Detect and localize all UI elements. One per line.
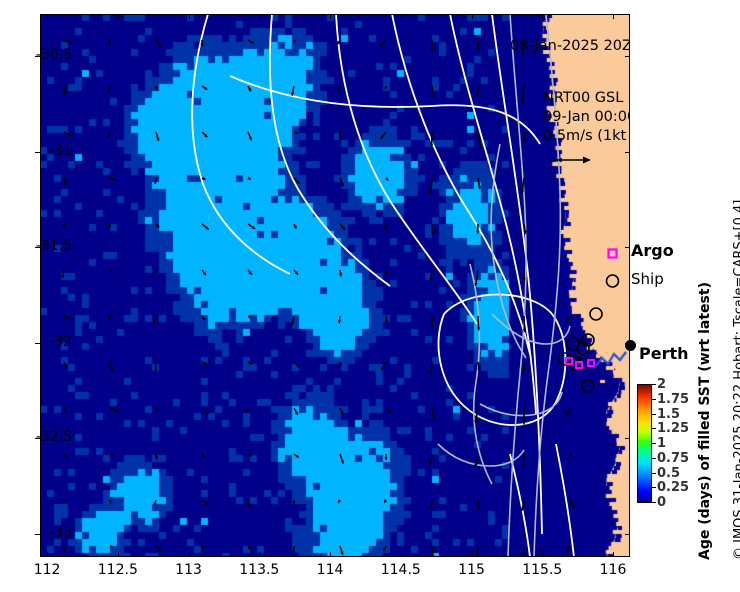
- date-label: 08-Jan-2025 20Z: [510, 38, 630, 54]
- current-vector-arrow: [248, 453, 252, 456]
- forecast-scale-label: 0.5m/s (1kt 6h): [543, 127, 630, 146]
- current-vector-arrow: [248, 270, 252, 275]
- y-axis-label: -32: [0, 334, 72, 350]
- x-axis-tick: [401, 552, 402, 557]
- argo-marker-icon: [605, 246, 621, 262]
- current-vector-arrow: [291, 316, 294, 325]
- colorbar-tick-label: 0.75: [657, 452, 689, 465]
- current-vector-arrow: [385, 177, 388, 180]
- perth-city-marker-icon: [625, 340, 636, 351]
- current-vector-arrow: [522, 546, 526, 557]
- current-vector-arrow: [476, 86, 479, 97]
- credit-label: © IMOS 31-Jan-2025 20:22 Hobart; Tscale=…: [732, 200, 740, 560]
- current-vector-arrow: [338, 86, 341, 91]
- current-vector-arrow: [156, 40, 161, 47]
- current-vector-arrow: [202, 270, 206, 275]
- current-vector-arrow: [62, 224, 65, 227]
- current-vector-arrow: [430, 500, 433, 510]
- current-vector-arrow: [294, 270, 298, 275]
- current-vector-arrow: [339, 132, 343, 140]
- x-axis-label: 116: [578, 562, 648, 578]
- y-axis-tick: [625, 534, 630, 535]
- current-vector-arrow: [339, 270, 342, 276]
- current-vector-arrow: [110, 408, 119, 412]
- vector-scale-arrow-icon: [552, 154, 592, 166]
- current-vector-arrow: [156, 224, 159, 227]
- x-axis-tick: [330, 14, 331, 19]
- current-vector-arrow: [202, 316, 205, 320]
- current-vector-arrow: [202, 177, 206, 180]
- x-axis-tick: [330, 552, 331, 557]
- x-axis-tick: [259, 14, 260, 19]
- y-axis-tick: [625, 343, 630, 344]
- x-axis-label: 113: [154, 562, 224, 578]
- current-vector-arrow: [340, 224, 345, 230]
- x-axis-tick: [47, 14, 48, 19]
- y-axis-tick: [625, 56, 630, 57]
- current-vector-arrow: [292, 546, 296, 553]
- current-vector-arrow: [154, 86, 157, 91]
- current-vector-arrow: [474, 454, 478, 467]
- x-axis-label: 115.5: [507, 562, 577, 578]
- current-vector-arrow: [294, 408, 298, 415]
- legend-label-ship: Ship: [631, 270, 664, 288]
- colorbar-tick-label: 1: [657, 437, 666, 450]
- colorbar-tick-label: 0: [657, 496, 666, 509]
- current-vector-arrow: [108, 316, 111, 321]
- colorbar-axis-title: Age (days) of filled SST (wrt latest): [697, 282, 713, 560]
- current-vector-arrow: [248, 546, 251, 550]
- ship-position-marker[interactable]: [590, 308, 602, 320]
- x-axis-label: 112.5: [83, 562, 153, 578]
- colorbar-tick-label: 2: [657, 378, 666, 391]
- colorbar-tick: [652, 384, 656, 385]
- x-axis-label: 115: [437, 562, 507, 578]
- current-vector-arrow: [156, 132, 159, 141]
- current-vector-arrow: [384, 499, 387, 502]
- legend-label-argo: Argo: [631, 241, 674, 260]
- colorbar-tick: [652, 473, 656, 474]
- current-vector-arrow: [62, 546, 66, 552]
- current-vector-arrow: [248, 40, 254, 44]
- current-vector-arrow: [108, 224, 111, 229]
- colorbar-tick-label: 1.5: [657, 408, 680, 421]
- current-vector-arrow: [248, 224, 255, 229]
- current-vector-arrow: [432, 86, 435, 98]
- x-axis-tick: [118, 552, 119, 557]
- current-vector-arrow: [154, 500, 157, 506]
- current-vector-arrow: [109, 269, 112, 272]
- colorbar-tick-label: 1.25: [657, 422, 689, 435]
- x-axis-tick: [472, 552, 473, 557]
- current-vector-arrow: [340, 546, 344, 555]
- x-axis-tick: [472, 14, 473, 19]
- y-axis-label: -32.5: [0, 429, 72, 445]
- current-vector-arrow: [429, 362, 432, 375]
- current-vector-arrow: [110, 453, 114, 456]
- argo-float-marker[interactable]: [566, 358, 572, 364]
- current-vector-arrow: [154, 270, 157, 274]
- current-vector-arrow: [521, 500, 524, 511]
- current-vector-arrow: [340, 408, 343, 414]
- current-vector-arrow: [477, 316, 480, 330]
- current-vector-arrow: [110, 545, 114, 548]
- current-vector-arrow: [381, 132, 386, 139]
- y-axis-label: -33: [0, 525, 72, 541]
- current-vector-arrow: [570, 500, 575, 508]
- current-vector-arrow: [475, 546, 478, 557]
- colorbar-tick: [652, 414, 656, 415]
- x-axis-tick: [542, 14, 543, 19]
- x-axis-tick: [542, 552, 543, 557]
- current-vector-arrow: [384, 224, 387, 229]
- current-vector-arrow: [63, 454, 66, 457]
- y-axis-tick: [625, 247, 630, 248]
- x-axis-label: 114: [295, 562, 365, 578]
- current-vector-arrow: [521, 178, 524, 193]
- colorbar-gradient: [637, 384, 652, 503]
- current-vector-arrow: [340, 454, 344, 463]
- current-vector-arrow: [248, 315, 252, 318]
- colorbar-tick: [652, 502, 656, 503]
- current-vector-arrow: [63, 499, 66, 502]
- current-vector-arrow: [566, 316, 570, 322]
- current-vector-arrow: [155, 454, 158, 459]
- current-vector-arrow: [64, 362, 67, 368]
- current-vector-arrow: [380, 40, 386, 46]
- current-vector-arrow: [478, 132, 483, 148]
- current-vector-arrow: [154, 178, 157, 184]
- x-axis-tick: [613, 14, 614, 19]
- x-axis-label: 112: [12, 562, 82, 578]
- forecast-model-label: NRT00 GSL: [543, 89, 630, 108]
- current-vector-arrow: [566, 408, 570, 417]
- colorbar-tick: [652, 399, 656, 400]
- current-vector-arrow: [381, 362, 386, 370]
- current-vector-arrow: [523, 132, 526, 142]
- current-vector-arrow: [338, 40, 341, 44]
- colorbar-tick: [652, 443, 656, 444]
- current-vector-arrow: [569, 454, 572, 457]
- current-vector-arrow: [202, 86, 207, 90]
- current-vector-arrow: [431, 224, 435, 234]
- current-vector-arrow: [63, 86, 66, 96]
- colorbar-tick-label: 0.25: [657, 481, 689, 494]
- y-axis-label: -31.5: [0, 238, 72, 254]
- current-vector-arrow: [200, 546, 203, 550]
- current-vector-arrow: [429, 178, 432, 195]
- current-vector-arrow: [202, 408, 209, 414]
- current-vector-arrow: [294, 362, 300, 368]
- current-vector-arrow: [107, 132, 110, 138]
- current-vector-arrow: [386, 408, 391, 413]
- current-vector-arrow: [385, 316, 388, 323]
- current-vector-arrow: [64, 132, 73, 137]
- x-axis-tick: [47, 552, 48, 557]
- x-axis-tick: [189, 552, 190, 557]
- current-vector-arrow: [338, 362, 341, 366]
- current-vector-arrow: [477, 362, 480, 372]
- colorbar-tick-label: 0.5: [657, 467, 680, 480]
- current-vector-arrow: [156, 408, 160, 412]
- current-vector-arrow: [61, 270, 64, 278]
- current-vector-arrow: [476, 224, 480, 234]
- current-vector-arrow: [248, 132, 252, 140]
- current-vector-arrow: [430, 132, 434, 147]
- current-vector-arrow: [64, 178, 67, 185]
- current-vector-arrow: [340, 178, 344, 186]
- current-vector-arrow: [523, 316, 527, 332]
- colorbar-tick: [652, 487, 656, 488]
- ship-position-marker[interactable]: [582, 380, 594, 392]
- current-vector-arrow: [429, 454, 432, 466]
- current-vector-arrow: [338, 499, 341, 502]
- y-axis-label: -31: [0, 143, 72, 159]
- sst-age-map-figure: 08-Jan-2025 20Z 200m 1000m NRT00 GSL 09-…: [0, 0, 740, 592]
- current-vector-arrow: [432, 408, 435, 419]
- x-axis-label: 114.5: [366, 562, 436, 578]
- current-vector-arrow: [430, 40, 434, 52]
- ship-marker-icon: [605, 273, 621, 289]
- current-vector-arrow: [247, 176, 250, 179]
- colorbar-tick: [652, 458, 656, 459]
- x-axis-tick: [613, 552, 614, 557]
- current-vector-arrow: [522, 270, 526, 281]
- current-vector-arrow: [522, 454, 526, 468]
- x-axis-label: 113.5: [224, 562, 294, 578]
- colorbar-tick-label: 1.75: [657, 393, 689, 406]
- current-vector-arrow: [477, 500, 480, 510]
- current-vector-arrow: [522, 408, 526, 425]
- current-vector-arrow: [110, 178, 116, 181]
- current-vector-arrow: [108, 500, 111, 503]
- current-vector-arrow: [429, 270, 432, 281]
- x-axis-tick: [401, 14, 402, 19]
- current-vector-arrow: [567, 546, 570, 552]
- current-vector-arrow: [521, 86, 524, 103]
- current-vector-arrow: [430, 316, 434, 328]
- colorbar-tick: [652, 428, 656, 429]
- current-vector-arrow: [202, 454, 205, 457]
- current-vector-arrow: [248, 86, 251, 91]
- current-vector-arrow: [477, 40, 480, 50]
- x-axis-tick: [118, 14, 119, 19]
- current-vector-arrow: [64, 316, 71, 319]
- current-vector-arrow: [202, 362, 207, 365]
- current-vector-arrow: [338, 316, 341, 323]
- y-axis-tick: [625, 438, 630, 439]
- current-vector-arrow: [110, 362, 113, 371]
- current-vector-arrow: [474, 270, 478, 286]
- current-vector-arrow: [291, 86, 294, 96]
- forecast-time-label: 09-Jan 00:00Z: [543, 108, 630, 127]
- y-axis-tick: [625, 152, 630, 153]
- current-vector-arrow: [292, 500, 296, 504]
- current-vector-arrow: [108, 40, 111, 45]
- current-vector-arrow: [478, 178, 481, 189]
- current-vector-arrow: [156, 546, 161, 551]
- current-vector-arrow: [200, 40, 204, 47]
- current-vector-arrow: [522, 362, 526, 371]
- perth-city-label: Perth: [639, 344, 689, 363]
- current-vector-arrow: [294, 131, 298, 134]
- current-vector-arrow: [384, 454, 388, 460]
- current-vector-arrow: [292, 40, 295, 44]
- current-vector-arrow: [247, 500, 250, 508]
- current-vector-arrow: [384, 86, 387, 89]
- current-vector-arrow: [248, 361, 252, 364]
- forecast-info-block: NRT00 GSL 09-Jan 00:00Z 0.5m/s (1kt 6h): [543, 89, 630, 146]
- y-axis-label: -30.5: [0, 47, 72, 63]
- current-vector-arrow: [474, 408, 478, 423]
- current-vector-arrow: [523, 224, 526, 234]
- current-vector-arrow: [153, 316, 156, 324]
- current-vector-arrow: [63, 408, 66, 411]
- current-vector-arrow: [294, 178, 300, 184]
- current-vector-arrow: [154, 362, 158, 372]
- current-vector-arrow: [64, 40, 72, 44]
- current-vector-arrow: [107, 86, 110, 93]
- argo-float-marker[interactable]: [588, 360, 594, 366]
- map-plot-area[interactable]: 08-Jan-2025 20Z 200m 1000m NRT00 GSL 09-…: [40, 14, 630, 557]
- current-vectors-layer: [40, 14, 630, 557]
- x-axis-tick: [189, 14, 190, 19]
- current-vector-arrow: [431, 546, 434, 557]
- current-vector-arrow: [246, 408, 249, 413]
- current-vector-arrow: [202, 224, 209, 230]
- current-vector-arrow: [202, 500, 208, 505]
- current-vector-arrow: [383, 546, 386, 551]
- current-vector-arrow: [294, 454, 299, 458]
- current-vector-arrow: [384, 270, 388, 275]
- current-vector-arrow: [202, 132, 207, 137]
- current-vector-arrow: [293, 224, 296, 229]
- x-axis-tick: [259, 552, 260, 557]
